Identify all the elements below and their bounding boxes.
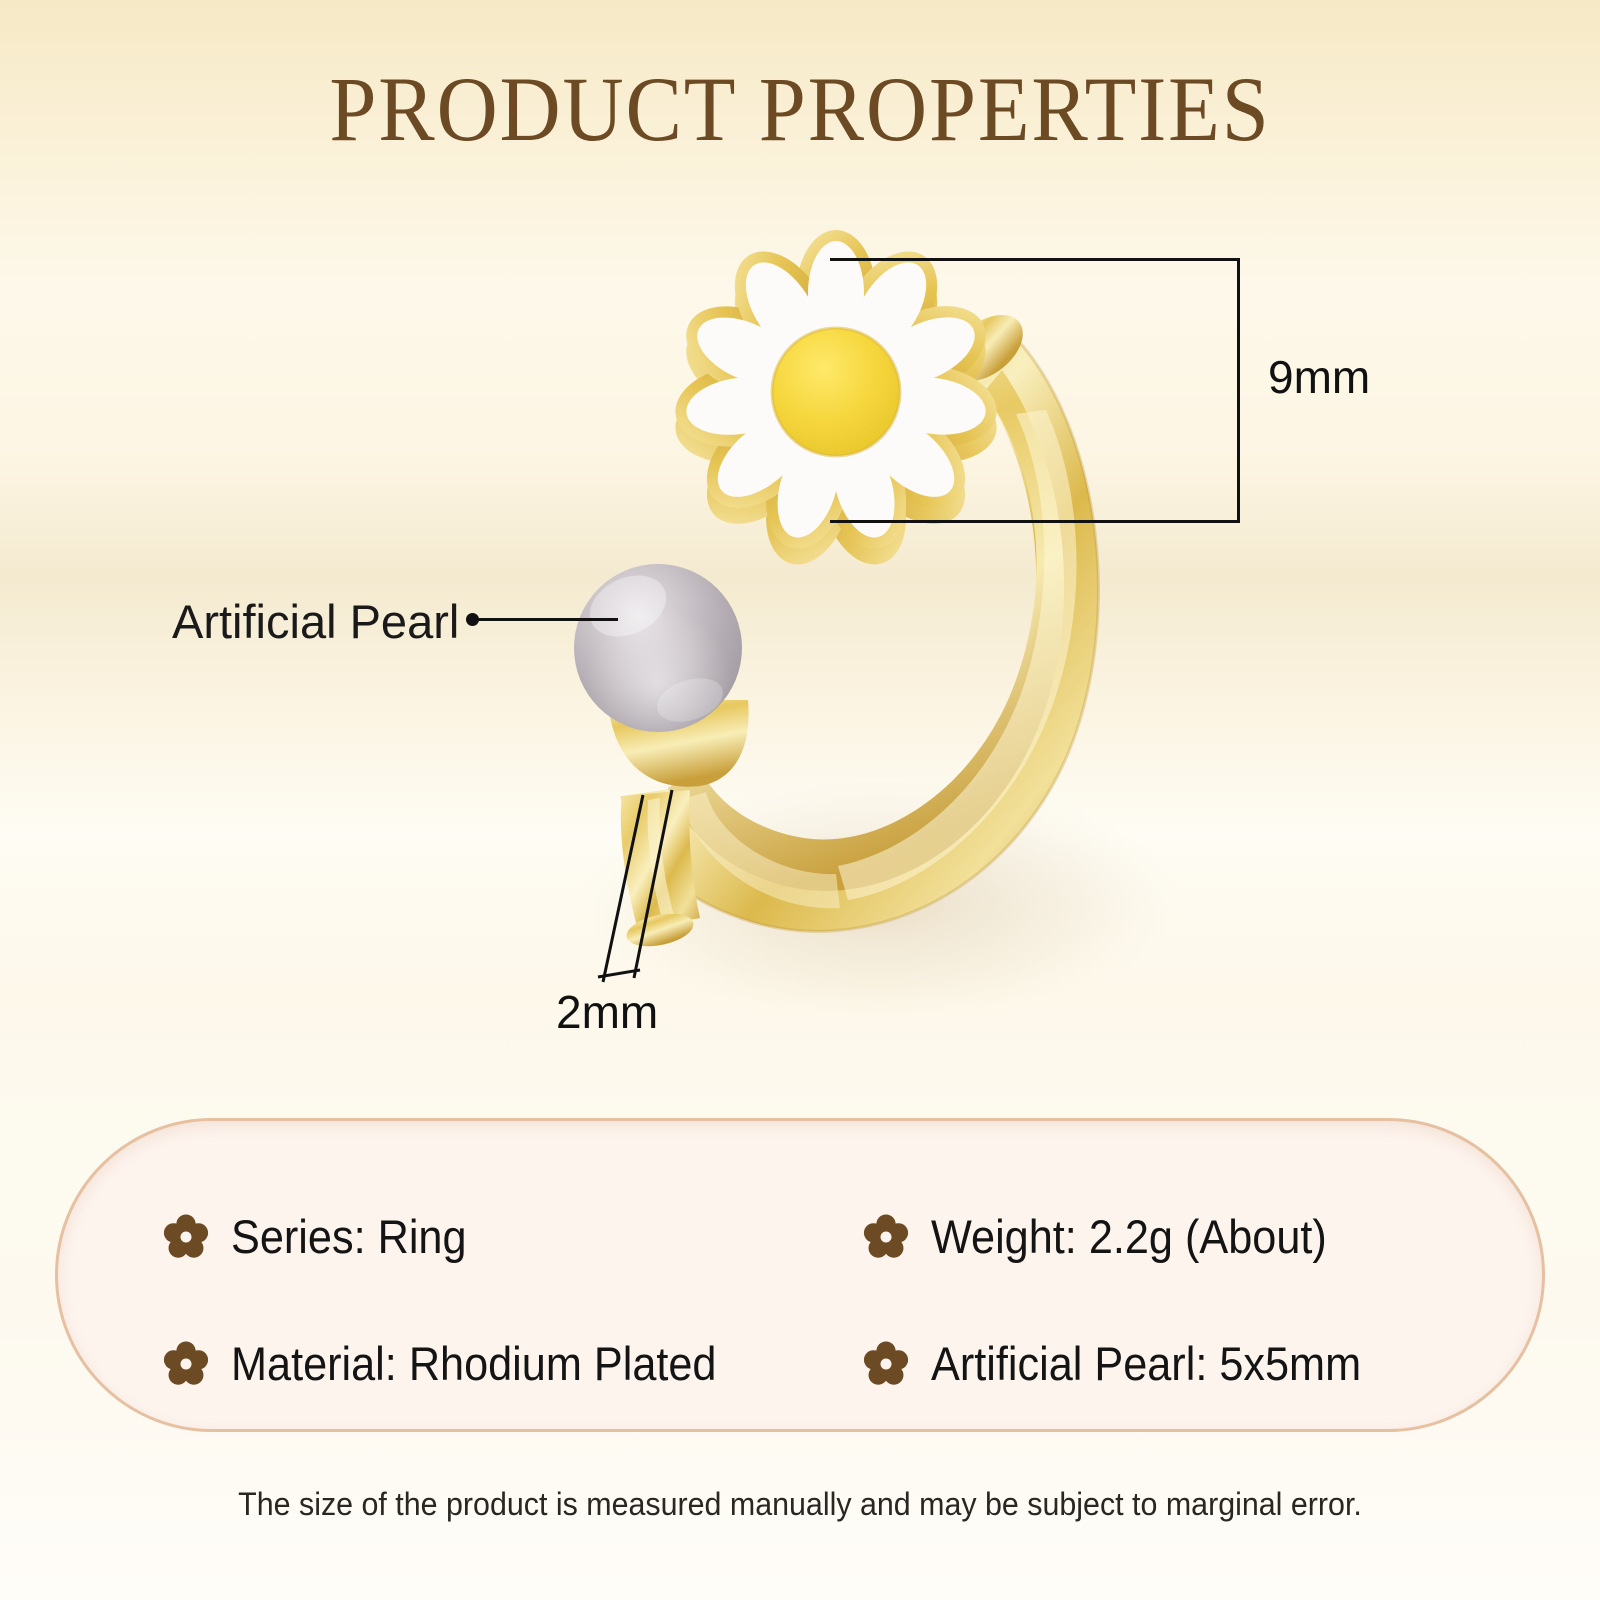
infographic-canvas: PRODUCT PROPERTIES (0, 0, 1600, 1600)
spec-item-artificial-pearl: Artificial Pearl: 5x5mm (863, 1336, 1399, 1391)
flower-bullet-icon (863, 1341, 909, 1387)
pearl-callout-label: Artificial Pearl (172, 594, 459, 649)
spec-item-series: Series: Ring (163, 1209, 487, 1264)
flower-bullet-icon (163, 1341, 209, 1387)
dimension-9mm-vertical-line (1237, 258, 1240, 523)
dimension-9mm-top-line (830, 258, 1240, 261)
spec-panel: Series: Ring Weight: 2.2g (About) (55, 1118, 1545, 1432)
spec-list: Series: Ring Weight: 2.2g (About) (58, 1121, 1542, 1429)
flower-bullet-icon (163, 1214, 209, 1260)
daisy-flower-charm (670, 230, 1002, 575)
dimension-9mm-label: 9mm (1268, 350, 1370, 404)
spec-item-label: Series: Ring (231, 1209, 467, 1264)
pearl-callout-leader-line (478, 618, 618, 621)
flower-bullet-icon (863, 1214, 909, 1260)
spec-item-material: Material: Rhodium Plated (163, 1336, 759, 1391)
spec-item-label: Weight: 2.2g (About) (931, 1209, 1327, 1264)
spec-item-label: Artificial Pearl: 5x5mm (931, 1336, 1361, 1391)
disclaimer-note: The size of the product is measured manu… (40, 1486, 1560, 1523)
spec-item-label: Material: Rhodium Plated (231, 1336, 716, 1391)
spec-item-weight: Weight: 2.2g (About) (863, 1209, 1361, 1264)
dimension-9mm-bottom-line (830, 520, 1240, 523)
dimension-2mm-label: 2mm (556, 985, 658, 1039)
artificial-pearl (574, 564, 749, 787)
